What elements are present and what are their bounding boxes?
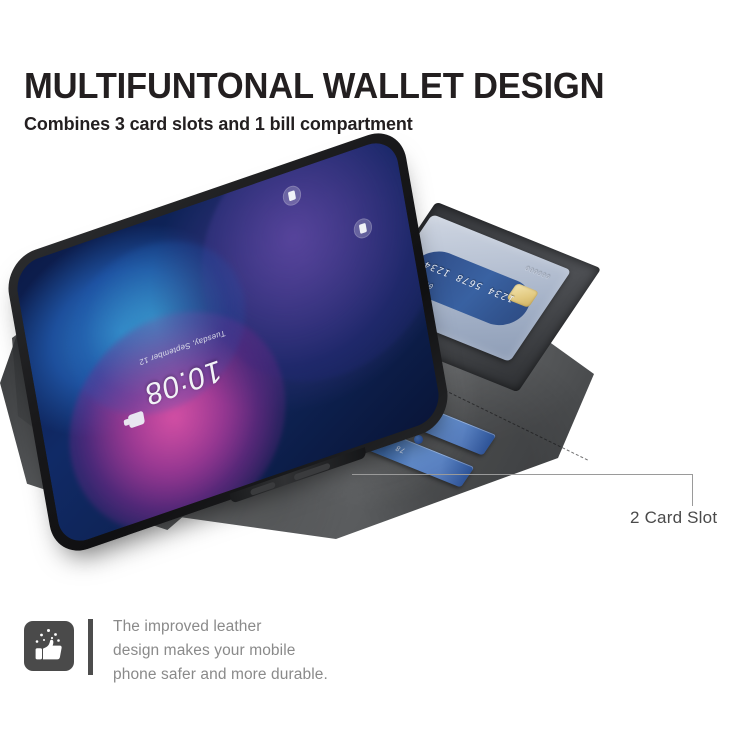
feature-line-1: The improved leather	[113, 615, 328, 639]
header-block: MULTIFUNTONAL WALLET DESIGN Combines 3 c…	[24, 66, 724, 135]
page-title: MULTIFUNTONAL WALLET DESIGN	[24, 66, 696, 106]
product-infographic-page: MULTIFUNTONAL WALLET DESIGN Combines 3 c…	[0, 0, 750, 750]
feature-block: The improved leather design makes your m…	[24, 615, 328, 687]
card-edge-number: 78	[393, 444, 407, 454]
callout-label-card-slot: 2 Card Slot	[630, 508, 717, 528]
callout-leader-line	[352, 474, 692, 475]
feature-line-3: phone safer and more durable.	[113, 663, 328, 687]
card-dot-icon	[414, 435, 423, 444]
feature-line-2: design makes your mobile	[113, 639, 328, 663]
callout-leader-line	[692, 474, 693, 506]
feature-description: The improved leather design makes your m…	[113, 615, 328, 687]
thumbs-up-icon	[24, 621, 74, 671]
feature-divider-bar	[88, 619, 93, 675]
card-brand-text: 000000	[523, 264, 552, 280]
page-subtitle: Combines 3 card slots and 1 bill compart…	[24, 113, 703, 135]
